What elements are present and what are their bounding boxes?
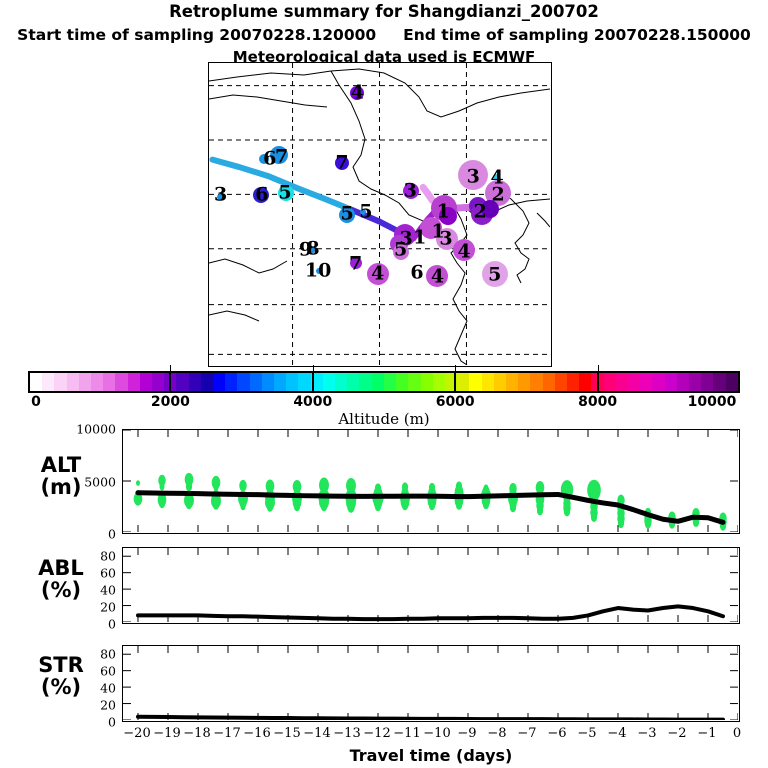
colorbar-swatch [494, 373, 506, 391]
colorbar-tick-label: 8000 [578, 394, 617, 410]
colorbar-swatch [518, 373, 530, 391]
x-tick-label: −5 [577, 726, 596, 741]
cluster-label: 3 [467, 168, 480, 187]
y-tick-label: 60 [58, 565, 116, 580]
alt-plot [123, 430, 738, 532]
cluster-label: 2 [473, 202, 486, 221]
cluster-label: 1 [437, 202, 450, 221]
cluster-label: 5 [359, 203, 372, 222]
retroplume-map[interactable]: 476736533425512311359841074645 [208, 62, 552, 367]
colorbar-swatch [396, 373, 408, 391]
colorbar-swatch [189, 373, 201, 391]
colorbar-swatch [79, 373, 91, 391]
colorbar-swatch [530, 373, 542, 391]
colorbar-swatch [713, 373, 725, 391]
cluster-label: 3 [439, 230, 452, 249]
colorbar-swatch [433, 373, 445, 391]
cluster-label: 5 [340, 205, 353, 224]
colorbar-swatch [469, 373, 481, 391]
y-tick-label: 60 [58, 663, 116, 678]
x-tick-label: −15 [273, 726, 300, 741]
colorbar-swatch [628, 373, 640, 391]
x-tick-label: −12 [363, 726, 390, 741]
y-tick-label: 40 [58, 680, 116, 695]
colorbar-swatch [482, 373, 494, 391]
alt-panel[interactable] [122, 429, 740, 534]
colorbar-swatch [421, 373, 433, 391]
colorbar-swatch [42, 373, 54, 391]
altitude-colorbar [28, 371, 740, 393]
colorbar-swatch [640, 373, 652, 391]
colorbar-swatch [201, 373, 213, 391]
colorbar-swatch [54, 373, 66, 391]
y-tick-label: 0 [58, 715, 116, 730]
y-tick-label: 40 [58, 582, 116, 597]
x-tick-label: 0 [733, 726, 741, 741]
colorbar-swatch [616, 373, 628, 391]
cluster-label: 4 [351, 84, 364, 103]
colorbar-swatch [677, 373, 689, 391]
colorbar-tick-label: 0 [31, 394, 41, 410]
x-tick-label: −2 [667, 726, 686, 741]
y-tick-label: 0 [58, 617, 116, 632]
colorbar-swatch [115, 373, 127, 391]
colorbar-swatch [726, 373, 738, 391]
map-gridlines [209, 63, 550, 365]
x-tick-label: −4 [607, 726, 626, 741]
x-tick-label: −6 [547, 726, 566, 741]
y-tick-label: 80 [58, 646, 116, 661]
colorbar-swatch [298, 373, 310, 391]
cluster-label: 7 [335, 153, 348, 172]
colorbar-tick-label: 2000 [151, 394, 190, 410]
y-tick-label: 0 [58, 527, 116, 542]
cluster-label: 3 [404, 182, 417, 201]
y-tick-label: 20 [58, 697, 116, 712]
colorbar-swatch [176, 373, 188, 391]
colorbar-swatch [335, 373, 347, 391]
colorbar-swatch [567, 373, 579, 391]
x-tick-label: −17 [213, 726, 240, 741]
x-tick-label: −8 [487, 726, 506, 741]
colorbar-swatch [359, 373, 371, 391]
colorbar-separator [312, 371, 314, 393]
colorbar-swatch [555, 373, 567, 391]
map-graphics [209, 63, 550, 365]
colorbar-tick-label: 10000 [688, 394, 737, 410]
colorbar-swatch [225, 373, 237, 391]
cluster-label: 8 [306, 240, 319, 259]
colorbar-swatch [128, 373, 140, 391]
cluster-label: 1 [413, 228, 426, 247]
y-tick-label: 5000 [58, 474, 116, 489]
colorbar-swatch [543, 373, 555, 391]
abl-panel[interactable] [122, 547, 740, 624]
cluster-label: 6 [410, 264, 423, 283]
cluster-label: 3 [214, 186, 227, 205]
cluster-label: 7 [349, 254, 362, 273]
x-tick-label: −10 [423, 726, 450, 741]
colorbar-separator [169, 371, 171, 393]
colorbar-swatch [701, 373, 713, 391]
colorbar-swatch [91, 373, 103, 391]
str-panel[interactable] [122, 645, 740, 722]
x-tick-label: −11 [393, 726, 420, 741]
colorbar-swatch [262, 373, 274, 391]
colorbar-swatch [506, 373, 518, 391]
str-plot [123, 646, 738, 720]
abl-plot [123, 548, 738, 622]
colorbar-swatch [152, 373, 164, 391]
colorbar-separator [597, 371, 599, 393]
cluster-label: 4 [431, 267, 444, 286]
cluster-label: 5 [278, 184, 291, 203]
colorbar-separator [454, 371, 456, 393]
x-tick-label: −1 [697, 726, 716, 741]
colorbar-swatch [237, 373, 249, 391]
x-tick-label: −19 [153, 726, 180, 741]
colorbar-swatch [347, 373, 359, 391]
x-tick-label: −18 [183, 726, 210, 741]
colorbar-swatch [579, 373, 591, 391]
colorbar-swatch [140, 373, 152, 391]
cluster-label: 4 [457, 242, 470, 261]
x-tick-label: −14 [303, 726, 330, 741]
colorbar-swatch [665, 373, 677, 391]
cluster-label: 2 [492, 186, 505, 205]
y-tick-label: 10000 [58, 422, 116, 437]
cluster-label: 10 [305, 262, 331, 281]
colorbar-swatch [250, 373, 262, 391]
colorbar-swatch [30, 373, 42, 391]
colorbar-tick-label: 4000 [293, 394, 332, 410]
sampling-times: Start time of sampling 20070228.120000 E… [0, 26, 768, 44]
colorbar-swatch [372, 373, 384, 391]
colorbar-swatch [274, 373, 286, 391]
colorbar-swatch [103, 373, 115, 391]
colorbar-swatch [286, 373, 298, 391]
cluster-label: 5 [488, 266, 501, 285]
cluster-label: 7 [275, 147, 288, 166]
y-tick-label: 20 [58, 599, 116, 614]
colorbar-swatch [408, 373, 420, 391]
page-title: Retroplume summary for Shangdianzi_20070… [0, 2, 768, 21]
x-tick-label: −13 [333, 726, 360, 741]
cluster-label: 6 [255, 185, 268, 204]
x-axis-title: Travel time (days) [122, 746, 740, 765]
colorbar-swatch [323, 373, 335, 391]
cluster-label: 4 [371, 265, 384, 284]
colorbar-swatch [457, 373, 469, 391]
colorbar-swatch [67, 373, 79, 391]
colorbar-swatch [652, 373, 664, 391]
colorbar-swatch [689, 373, 701, 391]
colorbar-swatch [384, 373, 396, 391]
colorbar-tick-label: 6000 [436, 394, 475, 410]
colorbar-swatch [604, 373, 616, 391]
x-tick-label: −9 [457, 726, 476, 741]
cluster-label: 5 [394, 241, 407, 260]
x-tick-label: −7 [517, 726, 536, 741]
x-tick-label: −20 [123, 726, 150, 741]
x-tick-label: −3 [637, 726, 656, 741]
y-tick-label: 80 [58, 548, 116, 563]
colorbar-swatch [213, 373, 225, 391]
x-tick-label: −16 [243, 726, 270, 741]
